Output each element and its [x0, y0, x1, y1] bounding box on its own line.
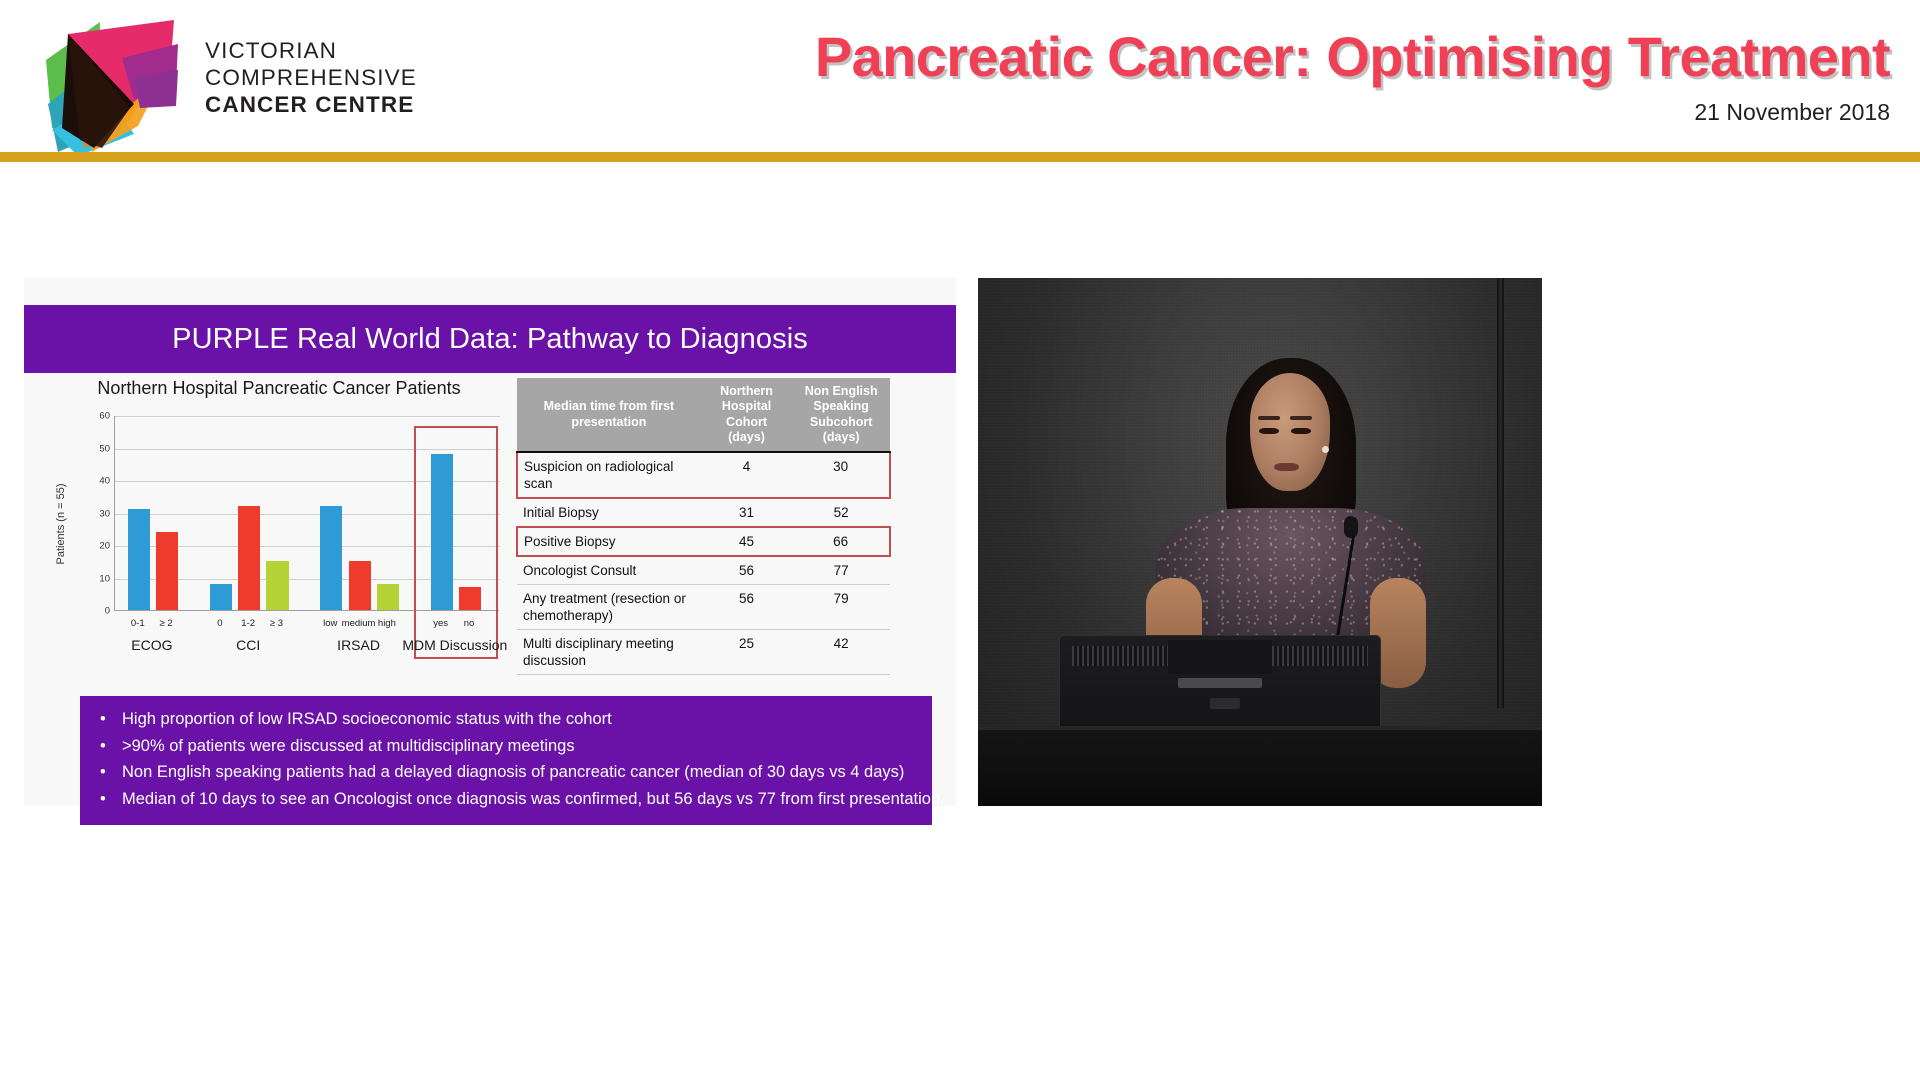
video-wall-post [1497, 278, 1504, 708]
cell-nes: 52 [792, 498, 890, 527]
chart-group-label: CCI [236, 637, 260, 653]
chart-gridline [115, 416, 500, 417]
chart-y-tick: 20 [99, 541, 110, 552]
speaker-eye-left [1259, 428, 1279, 434]
wordmark-line-1: VICTORIAN [205, 38, 417, 65]
header-divider [0, 152, 1920, 162]
chart-plot-area: 0102030405060 [114, 416, 499, 611]
chart-bar [266, 561, 288, 610]
key-finding-item: >90% of patients were discussed at multi… [94, 733, 918, 760]
chart-bar [210, 584, 232, 610]
chart-bar [320, 506, 342, 610]
wordmark-line-2: COMPREHENSIVE [205, 65, 417, 92]
chart-x-tick: ≥ 3 [270, 618, 283, 629]
slide-panel: PURPLE Real World Data: Pathway to Diagn… [24, 278, 956, 806]
chart-x-tick: medium [342, 618, 376, 629]
cell-northern: 4 [701, 452, 793, 498]
cell-measure: Suspicion on radiological scan [517, 452, 701, 498]
cell-nes: 66 [792, 527, 890, 556]
key-finding-item: Non English speaking patients had a dela… [94, 759, 918, 786]
key-findings-box: High proportion of low IRSAD socioeconom… [80, 696, 932, 825]
slide-title-bar: PURPLE Real World Data: Pathway to Diagn… [24, 305, 956, 373]
chart-y-tick: 50 [99, 443, 110, 454]
chart-bar [459, 587, 481, 610]
chart-group-label: ECOG [131, 637, 172, 653]
col-header-measure: Median time from first presentation [517, 378, 701, 452]
chart-title: Northern Hospital Pancreatic Cancer Pati… [44, 378, 514, 399]
table-row: Oncologist Consult5677 [517, 556, 890, 585]
chart-x-tick: no [464, 618, 475, 629]
chart-y-tick: 30 [99, 508, 110, 519]
presentation-date: 21 November 2018 [430, 99, 1890, 126]
cell-measure: Any treatment (resection or chemotherapy… [517, 585, 701, 630]
cell-northern: 25 [701, 630, 793, 675]
speaker-brow-right [1290, 416, 1312, 420]
table-row: Any treatment (resection or chemotherapy… [517, 585, 890, 630]
chart-x-tick: 1-2 [241, 618, 255, 629]
chart-bar [377, 584, 399, 610]
speaker-eye-right [1291, 428, 1311, 434]
table-row: Positive Biopsy4566 [517, 527, 890, 556]
col-header-northern: Northern Hospital Cohort (days) [701, 378, 793, 452]
cell-measure: Multi disciplinary meeting discussion [517, 630, 701, 675]
chart-y-axis-label: Patients (n = 55) [55, 449, 67, 599]
slide-title: PURPLE Real World Data: Pathway to Diagn… [172, 323, 808, 356]
chart-bar [431, 454, 453, 610]
chart-x-tick: high [378, 618, 396, 629]
vcc-logo [38, 8, 183, 156]
chart-bar [349, 561, 371, 610]
table-head: Median time from first presentation Nort… [517, 378, 890, 452]
cell-northern: 56 [701, 556, 793, 585]
vcc-wordmark: VICTORIAN COMPREHENSIVE CANCER CENTRE [205, 38, 417, 118]
chart-x-tick: 0 [217, 618, 222, 629]
pathway-table: Median time from first presentation Nort… [516, 378, 891, 675]
cell-northern: 56 [701, 585, 793, 630]
cell-nes: 30 [792, 452, 890, 498]
vcc-logo-mark [38, 8, 183, 156]
wordmark-line-3: CANCER CENTRE [205, 92, 417, 119]
cell-measure: Oncologist Consult [517, 556, 701, 585]
page-title: Pancreatic Cancer: Optimising Treatment [430, 24, 1890, 89]
monitor-strip [1178, 678, 1262, 688]
cell-nes: 77 [792, 556, 890, 585]
key-finding-item: High proportion of low IRSAD socioeconom… [94, 706, 918, 733]
key-findings-list: High proportion of low IRSAD socioeconom… [94, 706, 918, 813]
bar-chart: Northern Hospital Pancreatic Cancer Pati… [44, 378, 514, 678]
chart-x-tick: 0-1 [131, 618, 145, 629]
monitor-notch [1168, 640, 1272, 674]
col-header-nes: Non English Speaking Subcohort (days) [792, 378, 890, 452]
table-header-row: Median time from first presentation Nort… [517, 378, 890, 452]
chart-group-label: MDM Discussion [402, 637, 507, 653]
chart-y-tick: 10 [99, 573, 110, 584]
cell-northern: 45 [701, 527, 793, 556]
chart-gridline [115, 449, 500, 450]
pathway-table-panel: Median time from first presentation Nort… [516, 378, 936, 675]
speaker-video-feed[interactable] [978, 278, 1542, 806]
lectern-front [978, 730, 1542, 806]
page-header: VICTORIAN COMPREHENSIVE CANCER CENTRE Pa… [0, 0, 1920, 182]
cell-northern: 31 [701, 498, 793, 527]
cell-measure: Initial Biopsy [517, 498, 701, 527]
cell-nes: 42 [792, 630, 890, 675]
microphone-head [1344, 516, 1358, 538]
key-finding-item: Median of 10 days to see an Oncologist o… [94, 786, 918, 813]
table-row: Multi disciplinary meeting discussion254… [517, 630, 890, 675]
chart-bar [128, 509, 150, 610]
chart-group-label: IRSAD [337, 637, 380, 653]
chart-x-tick: ≥ 2 [160, 618, 173, 629]
table-row: Suspicion on radiological scan430 [517, 452, 890, 498]
chart-y-tick: 0 [105, 606, 110, 617]
table-body: Suspicion on radiological scan430Initial… [517, 452, 890, 675]
chart-y-tick: 60 [99, 411, 110, 422]
table-row: Initial Biopsy3152 [517, 498, 890, 527]
cell-measure: Positive Biopsy [517, 527, 701, 556]
monitor-button [1210, 698, 1240, 709]
chart-bar [156, 532, 178, 610]
speaker-earring [1322, 446, 1329, 453]
chart-x-tick: yes [433, 618, 448, 629]
speaker-mouth [1274, 463, 1299, 471]
cell-nes: 79 [792, 585, 890, 630]
speaker-brow-left [1258, 416, 1280, 420]
chart-y-tick: 40 [99, 476, 110, 487]
chart-x-tick: low [323, 618, 337, 629]
chart-bar [238, 506, 260, 610]
